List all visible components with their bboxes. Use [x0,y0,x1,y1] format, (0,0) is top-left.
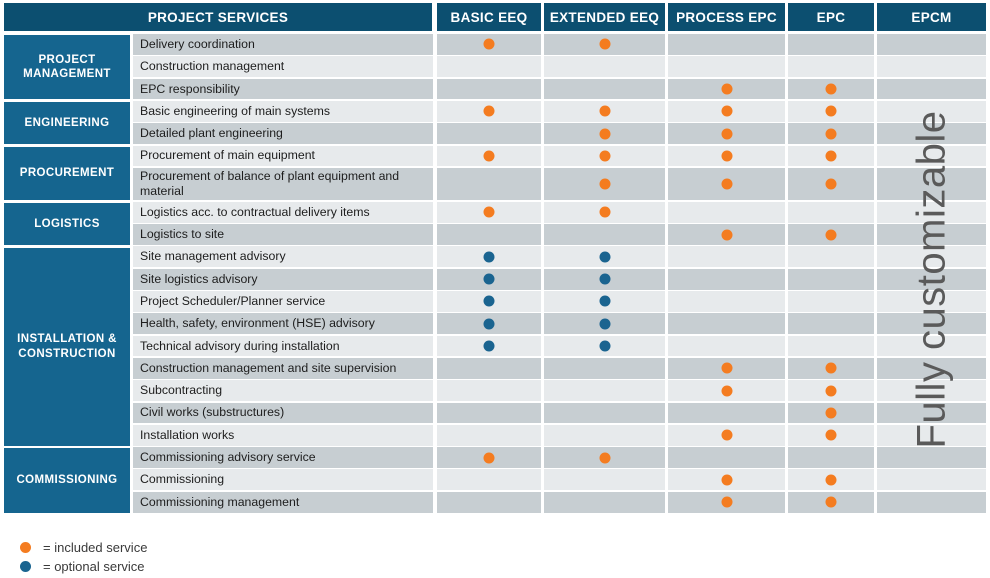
included-service-dot-icon [826,407,837,418]
service-label-cell: Installation works [133,425,433,446]
service-label-cell: EPC responsibility [133,79,433,100]
cell-epcm [877,469,986,490]
legend-item: = included service [20,538,420,557]
included-service-dot-icon [599,452,610,463]
service-label: Procurement of balance of plant equipmen… [133,168,433,201]
optional-service-dot-icon [599,296,610,307]
included-service-dot-icon [826,84,837,95]
included-service-dot-icon [599,106,610,117]
cell-epc [788,202,874,223]
cell-basic_eeq [437,469,541,490]
cell-process_epc [668,101,785,122]
cell-process_epc [668,146,785,167]
cell-process_epc [668,403,785,424]
cell-epc [788,403,874,424]
table-row: Construction management and site supervi… [133,358,986,380]
service-label-cell: Logistics to site [133,224,433,245]
cell-epcm [877,79,986,100]
cell-epcm [877,447,986,468]
cell-basic_eeq [437,380,541,401]
service-label-cell: Subcontracting [133,380,433,401]
optional-service-dot-icon [484,251,495,262]
optional-service-dot-icon [484,296,495,307]
cell-basic_eeq [437,403,541,424]
matrix-body: PROJECT MANAGEMENTENGINEERINGPROCUREMENT… [0,34,990,524]
category-label: COMMISSIONING [16,473,117,487]
cell-extended_eeq [544,336,665,357]
service-label: Technical advisory during installation [133,336,433,357]
legend-label: = optional service [43,559,145,574]
cell-basic_eeq [437,269,541,290]
header-column-basic-eeq: BASIC EEQ [437,3,541,31]
header-column-epc: EPC [788,3,874,31]
table-row: Construction management [133,56,986,78]
cell-epc [788,380,874,401]
service-label: Logistics to site [133,224,433,245]
table-row: Commissioning management [133,492,986,514]
included-service-dot-icon [599,179,610,190]
table-row: Commissioning [133,469,986,491]
cell-basic_eeq [437,246,541,267]
service-label-cell: Commissioning management [133,492,433,513]
cell-epc [788,224,874,245]
service-label-cell: Delivery coordination [133,34,433,55]
table-row: Delivery coordination [133,34,986,56]
cell-extended_eeq [544,269,665,290]
cell-epcm [877,224,986,245]
optional-service-dot-icon [599,318,610,329]
cell-basic_eeq [437,101,541,122]
included-service-dot-icon [826,106,837,117]
header-column-extended-eeq: EXTENDED EEQ [544,3,665,31]
cell-extended_eeq [544,146,665,167]
service-label: Construction management and site supervi… [133,358,433,379]
included-service-dot-icon [826,179,837,190]
cell-epcm [877,403,986,424]
cell-basic_eeq [437,447,541,468]
table-row: EPC responsibility [133,79,986,101]
cell-process_epc [668,269,785,290]
cell-extended_eeq [544,79,665,100]
optional-service-dot-icon [599,341,610,352]
cell-epc [788,269,874,290]
included-service-dot-icon [484,452,495,463]
cell-basic_eeq [437,224,541,245]
cell-extended_eeq [544,403,665,424]
cell-epcm [877,425,986,446]
table-row: Commissioning advisory service [133,447,986,469]
cell-process_epc [668,492,785,513]
included-service-dot-icon [721,106,732,117]
cell-epcm [877,34,986,55]
cell-basic_eeq [437,56,541,77]
included-service-dot-icon [721,363,732,374]
service-label-cell: Site management advisory [133,246,433,267]
service-label-cell: Civil works (substructures) [133,403,433,424]
cell-process_epc [668,56,785,77]
service-label-cell: Technical advisory during installation [133,336,433,357]
category-block-installation-construction: INSTALLATION & CONSTRUCTION [4,248,130,446]
category-block-procurement: PROCUREMENT [4,147,130,201]
category-label: PROCUREMENT [20,166,115,180]
cell-process_epc [668,168,785,201]
category-block-commissioning: COMMISSIONING [4,448,130,512]
cell-basic_eeq [437,492,541,513]
service-label-cell: Site logistics advisory [133,269,433,290]
included-service-dot-icon [826,497,837,508]
service-label-cell: Project Scheduler/Planner service [133,291,433,312]
cell-process_epc [668,313,785,334]
cell-extended_eeq [544,101,665,122]
cell-epcm [877,202,986,223]
service-label: Construction management [133,56,433,77]
included-service-dot-icon [721,474,732,485]
included-service-dot-icon [721,229,732,240]
table-row: Health, safety, environment (HSE) adviso… [133,313,986,335]
cell-basic_eeq [437,425,541,446]
cell-epcm [877,492,986,513]
table-row: Logistics to site [133,224,986,246]
optional-service-dot-icon [599,251,610,262]
cell-epc [788,246,874,267]
header-column-epcm: EPCM [877,3,986,31]
included-service-dot-icon [599,207,610,218]
cell-epcm [877,269,986,290]
optional-service-dot-icon [484,274,495,285]
table-row: Installation works [133,425,986,447]
table-row: Detailed plant engineering [133,123,986,145]
table-row: Civil works (substructures) [133,403,986,425]
cell-epcm [877,123,986,144]
service-label: Commissioning advisory service [133,447,433,468]
cell-extended_eeq [544,358,665,379]
service-label: Subcontracting [133,380,433,401]
cell-basic_eeq [437,34,541,55]
cell-epcm [877,56,986,77]
cell-process_epc [668,447,785,468]
included-service-dot-icon [826,430,837,441]
service-label-cell: Basic engineering of main systems [133,101,433,122]
cell-extended_eeq [544,202,665,223]
legend-item: = optional service [20,557,420,576]
service-label: Installation works [133,425,433,446]
cell-epcm [877,101,986,122]
cell-process_epc [668,34,785,55]
cell-epc [788,101,874,122]
header-column-process-epc: PROCESS EPC [668,3,785,31]
cell-epc [788,34,874,55]
cell-epcm [877,291,986,312]
service-label-cell: Commissioning advisory service [133,447,433,468]
legend: = included service= optional service [20,538,420,576]
service-label: EPC responsibility [133,79,433,100]
cell-extended_eeq [544,425,665,446]
cell-extended_eeq [544,168,665,201]
category-block-project-management: PROJECT MANAGEMENT [4,35,130,99]
cell-extended_eeq [544,34,665,55]
included-service-dot-icon [826,128,837,139]
cell-process_epc [668,336,785,357]
service-label-cell: Detailed plant engineering [133,123,433,144]
included-service-dot-icon [599,39,610,50]
service-label: Site management advisory [133,246,433,267]
cell-basic_eeq [437,79,541,100]
category-label: LOGISTICS [34,217,100,231]
service-label: Civil works (substructures) [133,403,433,424]
service-label-cell: Procurement of main equipment [133,146,433,167]
cell-extended_eeq [544,56,665,77]
service-scope-matrix: PROJECT SERVICES BASIC EEQ EXTENDED EEQ … [0,0,990,578]
cell-process_epc [668,224,785,245]
service-label: Procurement of main equipment [133,146,433,167]
service-label: Health, safety, environment (HSE) adviso… [133,313,433,334]
included-service-dot-icon [484,106,495,117]
cell-epcm [877,336,986,357]
cell-extended_eeq [544,246,665,267]
included-service-dot-icon [484,39,495,50]
cell-epcm [877,380,986,401]
cell-extended_eeq [544,313,665,334]
cell-epc [788,492,874,513]
cell-epc [788,123,874,144]
cell-epc [788,168,874,201]
optional-service-dot-icon [484,341,495,352]
included-service-dot-icon [721,430,732,441]
cell-basic_eeq [437,313,541,334]
cell-epc [788,425,874,446]
included-service-dot-icon [484,207,495,218]
category-label: INSTALLATION & CONSTRUCTION [8,332,126,361]
cell-epc [788,56,874,77]
service-label: Delivery coordination [133,34,433,55]
cell-process_epc [668,291,785,312]
legend-included-dot-icon [20,542,31,553]
included-service-dot-icon [826,385,837,396]
category-label: PROJECT MANAGEMENT [8,53,126,82]
cell-extended_eeq [544,380,665,401]
table-row: Procurement of main equipment [133,146,986,168]
included-service-dot-icon [826,229,837,240]
optional-service-dot-icon [599,274,610,285]
cell-process_epc [668,425,785,446]
cell-process_epc [668,380,785,401]
cell-process_epc [668,79,785,100]
cell-extended_eeq [544,492,665,513]
cell-epc [788,146,874,167]
cell-basic_eeq [437,146,541,167]
service-label: Commissioning [133,469,433,490]
category-block-engineering: ENGINEERING [4,102,130,144]
cell-epcm [877,358,986,379]
included-service-dot-icon [721,84,732,95]
cell-process_epc [668,358,785,379]
service-label-cell: Logistics acc. to contractual delivery i… [133,202,433,223]
cell-basic_eeq [437,358,541,379]
included-service-dot-icon [826,363,837,374]
cell-epc [788,447,874,468]
service-label-cell: Construction management and site supervi… [133,358,433,379]
cell-process_epc [668,246,785,267]
cell-basic_eeq [437,291,541,312]
service-label-cell: Commissioning [133,469,433,490]
cell-basic_eeq [437,123,541,144]
header-project-services: PROJECT SERVICES [4,3,432,31]
cell-basic_eeq [437,202,541,223]
table-row: Subcontracting [133,380,986,402]
cell-basic_eeq [437,168,541,201]
legend-label: = included service [43,540,147,555]
included-service-dot-icon [721,128,732,139]
service-label: Site logistics advisory [133,269,433,290]
included-service-dot-icon [826,474,837,485]
cell-process_epc [668,469,785,490]
service-label: Project Scheduler/Planner service [133,291,433,312]
cell-epc [788,358,874,379]
cell-epcm [877,168,986,201]
optional-service-dot-icon [484,318,495,329]
cell-epcm [877,146,986,167]
table-row: Project Scheduler/Planner service [133,291,986,313]
matrix-header: PROJECT SERVICES BASIC EEQ EXTENDED EEQ … [0,0,990,34]
included-service-dot-icon [721,497,732,508]
included-service-dot-icon [484,150,495,161]
cell-extended_eeq [544,447,665,468]
cell-extended_eeq [544,224,665,245]
cell-epcm [877,313,986,334]
service-label: Detailed plant engineering [133,123,433,144]
service-label-cell: Construction management [133,56,433,77]
cell-extended_eeq [544,123,665,144]
cell-extended_eeq [544,291,665,312]
legend-optional-dot-icon [20,561,31,572]
included-service-dot-icon [599,128,610,139]
cell-extended_eeq [544,469,665,490]
included-service-dot-icon [826,150,837,161]
table-row: Basic engineering of main systems [133,101,986,123]
cell-epc [788,336,874,357]
cell-epc [788,313,874,334]
table-row: Technical advisory during installation [133,336,986,358]
cell-process_epc [668,202,785,223]
cell-epc [788,469,874,490]
included-service-dot-icon [599,150,610,161]
cell-epc [788,291,874,312]
cell-epcm [877,246,986,267]
table-row: Procurement of balance of plant equipmen… [133,168,986,202]
included-service-dot-icon [721,179,732,190]
cell-process_epc [668,123,785,144]
cell-epc [788,79,874,100]
cell-basic_eeq [437,336,541,357]
service-label-cell: Health, safety, environment (HSE) adviso… [133,313,433,334]
service-label: Logistics acc. to contractual delivery i… [133,202,433,223]
service-label-cell: Procurement of balance of plant equipmen… [133,168,433,201]
category-block-logistics: LOGISTICS [4,203,130,245]
service-label: Commissioning management [133,492,433,513]
included-service-dot-icon [721,150,732,161]
table-row: Site logistics advisory [133,269,986,291]
service-label: Basic engineering of main systems [133,101,433,122]
table-row: Logistics acc. to contractual delivery i… [133,202,986,224]
included-service-dot-icon [721,385,732,396]
category-label: ENGINEERING [25,116,110,130]
table-row: Site management advisory [133,246,986,268]
